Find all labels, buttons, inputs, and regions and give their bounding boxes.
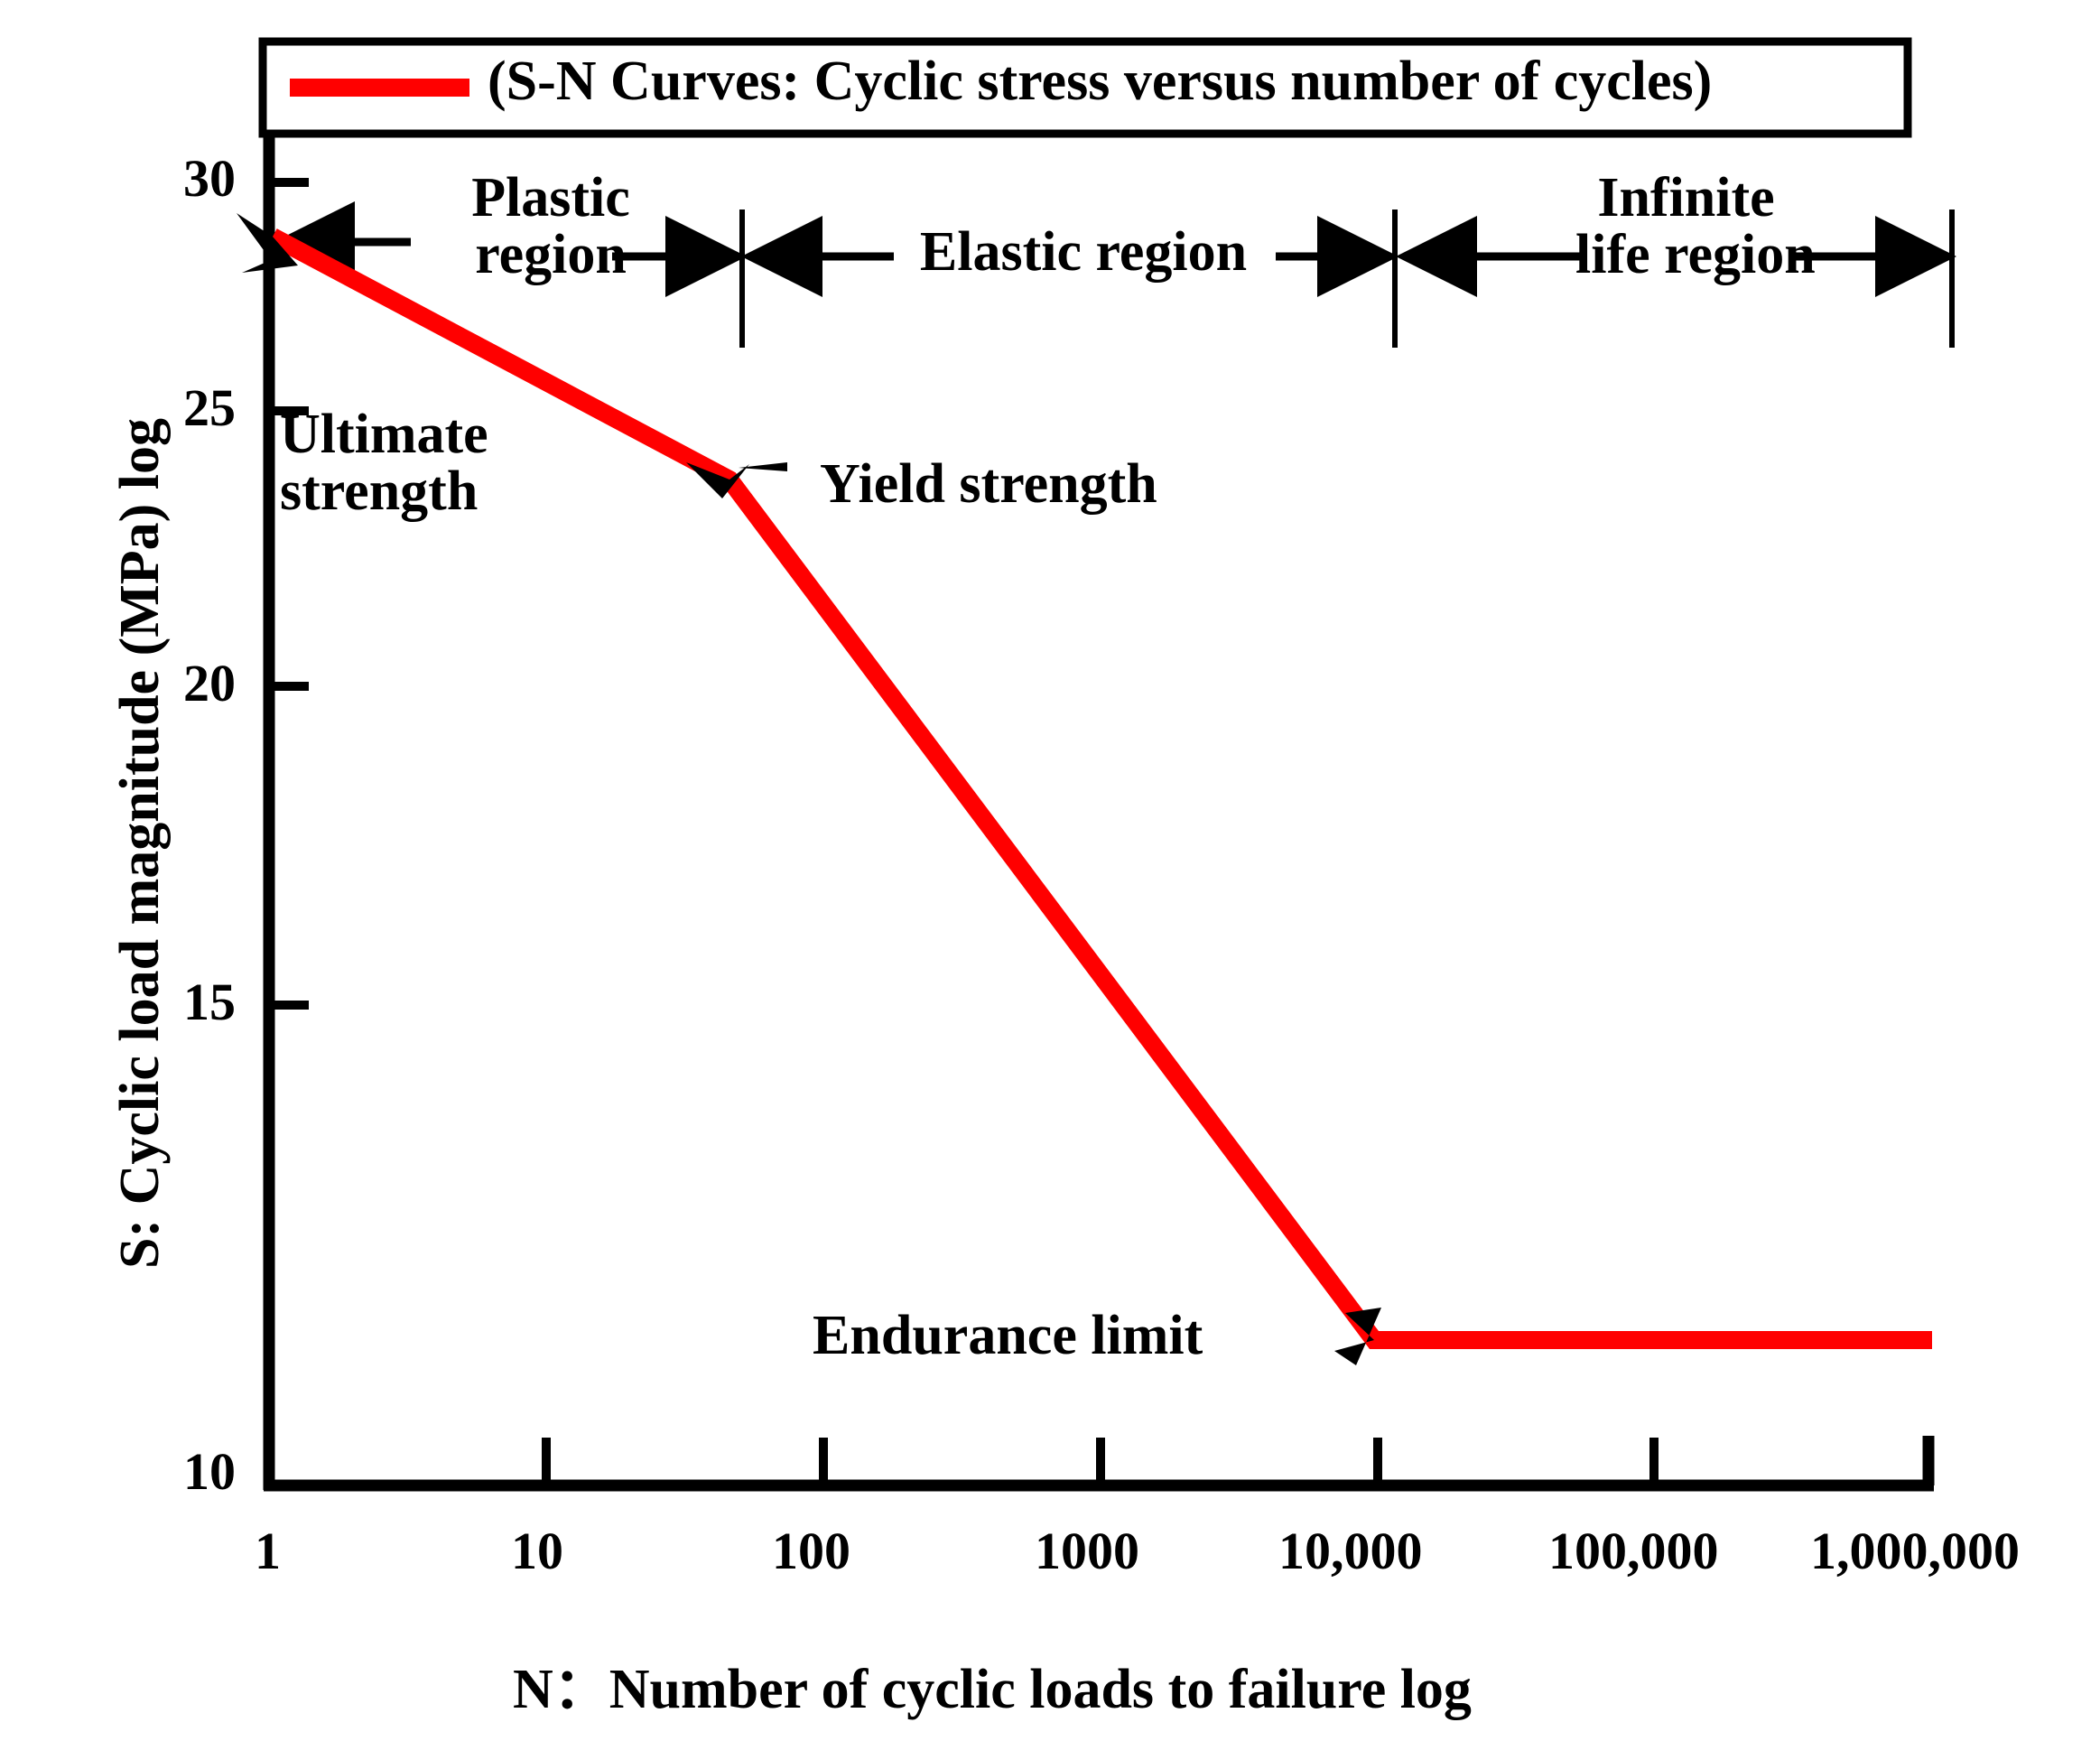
y-tick-label-20: 20 <box>183 656 236 710</box>
x-tick-label-10: 10 <box>511 1524 563 1578</box>
ultimate-strength-label: Ultimate strength <box>280 406 488 520</box>
x-tick-label-1: 1 <box>255 1524 281 1578</box>
y-tick-label-30: 30 <box>183 152 236 205</box>
y-axis-title: S: Cyclic load magnitude (MPa) log <box>108 418 172 1269</box>
plastic-region-label: Plastic region <box>424 170 677 284</box>
yield-strength-pointer <box>739 462 787 471</box>
yield-strength-label: Yield strength <box>820 456 1157 513</box>
y-tick-label-10: 10 <box>183 1445 236 1498</box>
sn-curve <box>273 237 1932 1340</box>
endurance-limit-label: Endurance limit <box>813 1308 1203 1364</box>
x-tick-label-100000: 100,000 <box>1548 1524 1719 1578</box>
infinite-life-region-label: Infinite life region <box>1575 170 1797 284</box>
x-tick-label-100: 100 <box>772 1524 850 1578</box>
y-tick-label-15: 15 <box>183 975 236 1029</box>
x-tick-label-1000000: 1,000,000 <box>1810 1524 2020 1578</box>
legend-label: (S-N Curves: Cyclic stress versus number… <box>488 53 1712 110</box>
x-tick-label-1000: 1000 <box>1035 1524 1139 1578</box>
elastic-region-label: Elastic region <box>889 224 1278 281</box>
x-axis-title: N：Number of cyclic loads to failure log <box>513 1662 1472 1718</box>
x-tick-label-10000: 10,000 <box>1278 1524 1423 1578</box>
y-tick-label-25: 25 <box>183 381 236 434</box>
chart-figure: (S-N Curves: Cyclic stress versus number… <box>0 0 2100 1741</box>
